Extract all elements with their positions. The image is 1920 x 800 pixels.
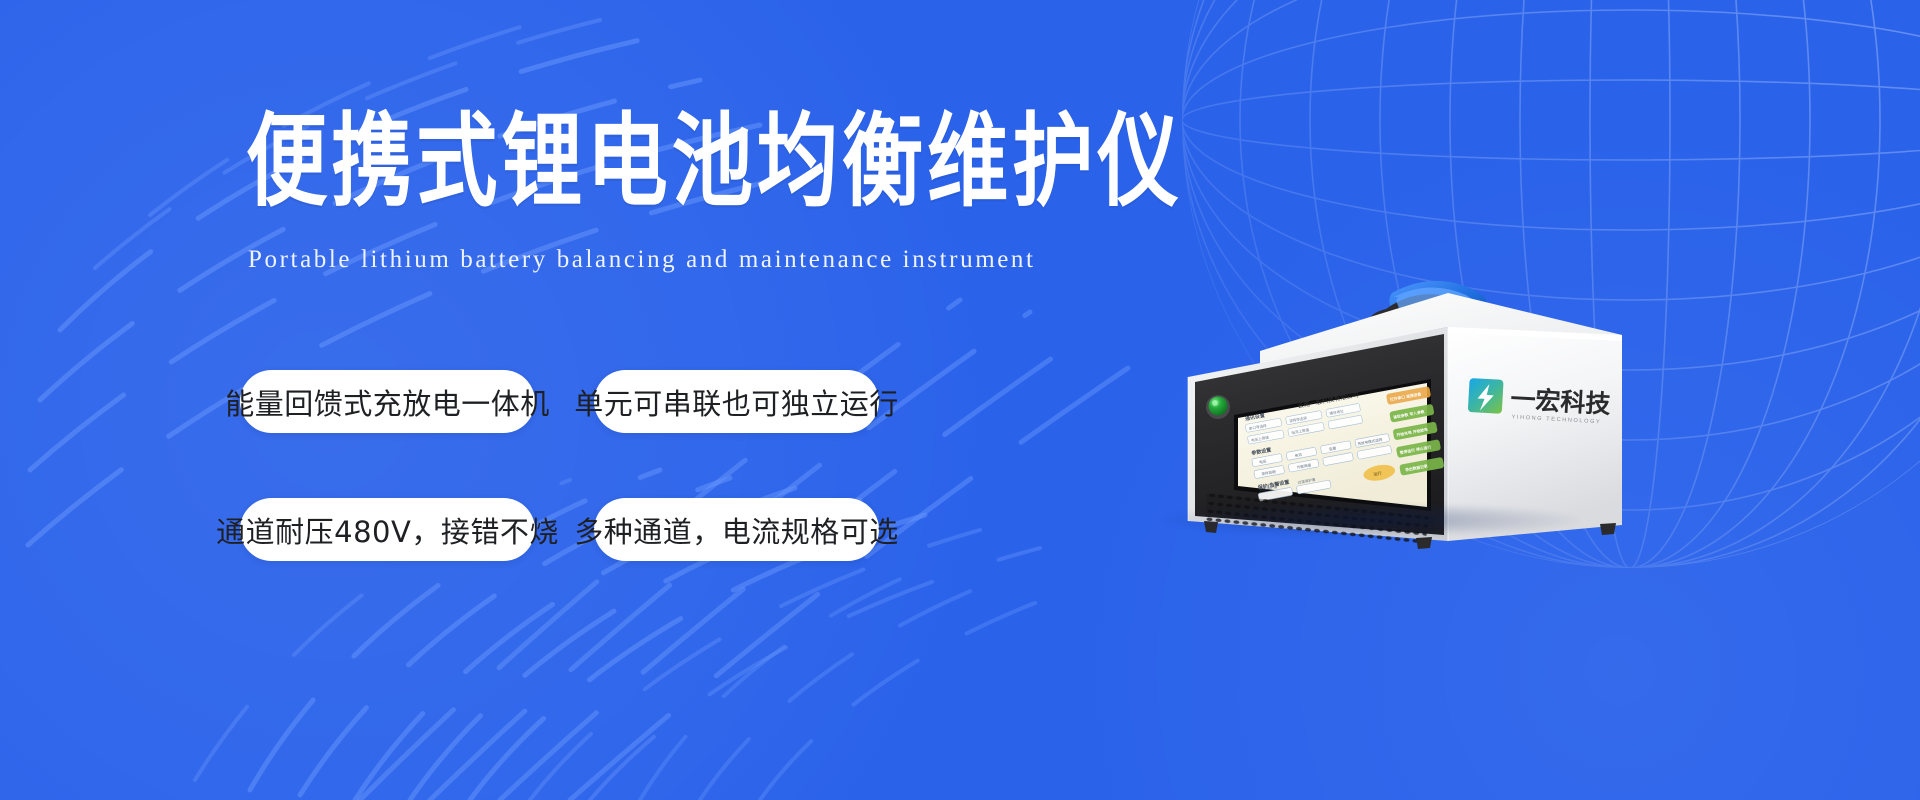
feature-pill-list: 能量回馈式充放电一体机 单元可串联也可独立运行 通道耐压480V，接错不烧 多种… bbox=[240, 370, 1140, 626]
page-title: 便携式锂电池均衡维护仪 bbox=[246, 112, 1183, 214]
brand-name: 一宏科技 bbox=[1510, 384, 1611, 419]
feature-pill[interactable]: 能量回馈式充放电一体机 bbox=[240, 370, 535, 433]
feature-pill-row: 能量回馈式充放电一体机 单元可串联也可独立运行 bbox=[240, 370, 1140, 433]
page-subtitle: Portable lithium battery balancing and m… bbox=[248, 246, 1036, 274]
feature-pill[interactable]: 通道耐压480V，接错不烧 bbox=[240, 498, 535, 561]
device-shadow bbox=[1160, 503, 1580, 537]
feature-pill[interactable]: 多种通道，电流规格可选 bbox=[594, 498, 879, 561]
feature-pill[interactable]: 单元可串联也可独立运行 bbox=[594, 370, 879, 433]
power-indicator[interactable] bbox=[1206, 395, 1230, 419]
banner-content: 便携式锂电池均衡维护仪 Portable lithium battery bal… bbox=[0, 0, 1150, 800]
promo-banner: 便携式锂电池均衡维护仪 Portable lithium battery bal… bbox=[0, 0, 1920, 800]
feature-pill-row: 通道耐压480V，接错不烧 多种通道，电流规格可选 bbox=[240, 498, 1140, 561]
power-led-icon bbox=[1209, 397, 1228, 416]
device-product-image: 一宏科技 YIHONG TECHNOLOGY 云南一宏科技有限公司 bbox=[1148, 235, 1628, 565]
